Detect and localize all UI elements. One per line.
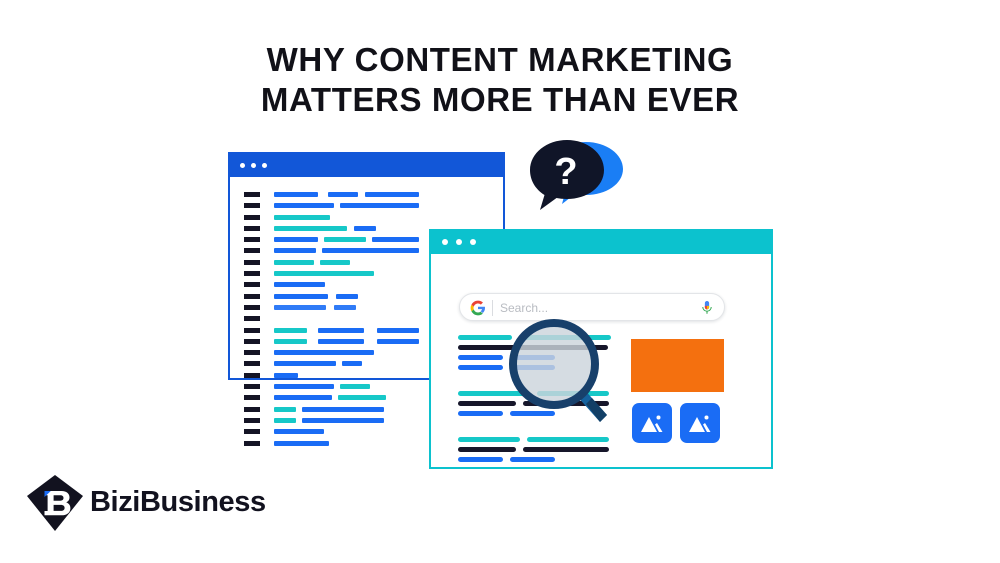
window-dot-3[interactable]	[262, 163, 267, 168]
code-token	[338, 395, 386, 400]
illustration-canvas: WHY CONTENT MARKETING MATTERS MORE THAN …	[0, 0, 1000, 563]
code-token	[324, 237, 366, 242]
orange-image-placeholder[interactable]	[631, 339, 724, 392]
result-text-line	[458, 457, 503, 462]
result-text-line	[458, 335, 512, 340]
code-token	[274, 192, 318, 197]
brand-logo[interactable]: BiziBusiness	[26, 474, 276, 532]
code-token	[354, 226, 376, 231]
code-token	[302, 407, 384, 412]
question-mark-glyph: ?	[554, 151, 577, 193]
code-token	[340, 203, 419, 208]
result-text-row	[458, 365, 618, 375]
code-token	[372, 237, 419, 242]
code-token	[342, 361, 362, 366]
result-text-line	[458, 365, 503, 370]
result-text-row	[458, 355, 618, 365]
result-text-line	[519, 335, 611, 340]
code-line	[244, 200, 495, 211]
result-text-row	[458, 391, 618, 401]
code-line	[244, 212, 495, 223]
browser-dot-1[interactable]	[442, 239, 448, 245]
result-text-line	[458, 411, 503, 416]
code-line-number-mark	[244, 260, 260, 265]
bizi-diamond-mark-icon	[26, 474, 84, 532]
code-line-number-mark	[244, 226, 260, 231]
result-text-line	[523, 401, 609, 406]
browser-dot-2[interactable]	[456, 239, 462, 245]
code-token	[274, 395, 332, 400]
code-token	[274, 361, 336, 366]
browser-dot-3[interactable]	[470, 239, 476, 245]
code-token	[274, 237, 318, 242]
code-line-number-mark	[244, 395, 260, 400]
code-line-number-mark	[244, 361, 260, 366]
code-token	[274, 294, 328, 299]
code-line-number-mark	[244, 294, 260, 299]
mountain-image-glyph	[688, 413, 712, 433]
result-text-line	[458, 437, 520, 442]
code-token	[274, 373, 298, 378]
code-token	[274, 226, 347, 231]
window-dot-2[interactable]	[251, 163, 256, 168]
code-token	[274, 203, 334, 208]
result-text-line	[458, 401, 516, 406]
image-thumbnail-icon[interactable]	[632, 403, 672, 443]
code-line-number-mark	[244, 384, 260, 389]
browser-titlebar	[431, 231, 771, 254]
code-token	[365, 192, 419, 197]
result-text-line	[510, 411, 555, 416]
result-text-line	[523, 447, 609, 452]
result-text-row	[458, 447, 618, 457]
code-token	[340, 384, 370, 389]
result-text-line	[458, 447, 516, 452]
search-divider	[492, 300, 493, 316]
code-token	[274, 271, 374, 276]
brand-logo-text: BiziBusiness	[90, 486, 266, 519]
result-text-line	[458, 355, 503, 360]
code-line-number-mark	[244, 305, 260, 310]
question-speech-bubble-icon: ?	[528, 138, 608, 212]
code-line-number-mark	[244, 271, 260, 276]
result-text-line	[458, 345, 608, 350]
code-token	[274, 328, 307, 333]
page-title-line-2: MATTERS MORE THAN EVER	[0, 80, 1000, 120]
code-token	[274, 384, 334, 389]
code-token	[274, 350, 374, 355]
code-line	[244, 189, 495, 200]
search-result-item[interactable]	[458, 335, 618, 375]
result-text-row	[458, 411, 618, 421]
result-text-row	[458, 345, 618, 355]
search-input[interactable]: Search...	[459, 293, 725, 321]
code-token	[318, 328, 364, 333]
code-line-number-mark	[244, 282, 260, 287]
mountain-image-glyph	[640, 413, 664, 433]
code-token	[336, 294, 358, 299]
result-text-line	[527, 437, 609, 442]
code-token	[274, 441, 329, 446]
code-window-titlebar	[230, 154, 503, 177]
code-token	[322, 248, 419, 253]
code-line-number-mark	[244, 248, 260, 253]
result-text-line	[510, 365, 555, 370]
code-token	[274, 282, 325, 287]
code-token	[320, 260, 350, 265]
window-dot-1[interactable]	[240, 163, 245, 168]
code-line-number-mark	[244, 407, 260, 412]
code-line-number-mark	[244, 215, 260, 220]
code-token	[274, 418, 296, 423]
question-bubbles-group: ?	[528, 136, 630, 212]
code-token	[274, 339, 307, 344]
code-token	[318, 339, 364, 344]
code-token	[274, 248, 316, 253]
page-title: WHY CONTENT MARKETING MATTERS MORE THAN …	[0, 40, 1000, 120]
result-text-row	[458, 437, 618, 447]
browser-window[interactable]: Search...	[429, 229, 773, 469]
code-token	[328, 192, 358, 197]
search-results-list	[458, 335, 618, 483]
page-title-line-1: WHY CONTENT MARKETING	[0, 40, 1000, 80]
result-text-line	[537, 391, 609, 396]
search-result-item[interactable]	[458, 391, 618, 421]
code-line-number-mark	[244, 339, 260, 344]
code-line-number-mark	[244, 328, 260, 333]
code-line-number-mark	[244, 350, 260, 355]
code-line-number-mark	[244, 203, 260, 208]
code-line-number-mark	[244, 418, 260, 423]
code-token	[274, 215, 330, 220]
code-line-number-mark	[244, 237, 260, 242]
code-token	[274, 305, 326, 310]
search-result-item[interactable]	[458, 437, 618, 467]
google-g-icon	[470, 300, 486, 316]
result-text-line	[510, 355, 555, 360]
code-line-number-mark	[244, 316, 260, 321]
result-text-line	[458, 391, 530, 396]
code-line-number-mark	[244, 192, 260, 197]
code-token	[274, 429, 324, 434]
result-text-line	[510, 457, 555, 462]
code-line-number-mark	[244, 441, 260, 446]
code-line-number-mark	[244, 373, 260, 378]
result-text-row	[458, 401, 618, 411]
result-text-row	[458, 457, 618, 467]
code-token	[302, 418, 384, 423]
code-token	[377, 339, 419, 344]
code-token	[274, 260, 314, 265]
image-thumbnail-icon[interactable]	[680, 403, 720, 443]
code-token	[274, 407, 296, 412]
search-placeholder: Search...	[500, 299, 548, 317]
code-token	[377, 328, 419, 333]
result-text-row	[458, 335, 618, 345]
code-line-number-mark	[244, 429, 260, 434]
microphone-icon[interactable]	[700, 300, 714, 316]
code-token	[334, 305, 356, 310]
